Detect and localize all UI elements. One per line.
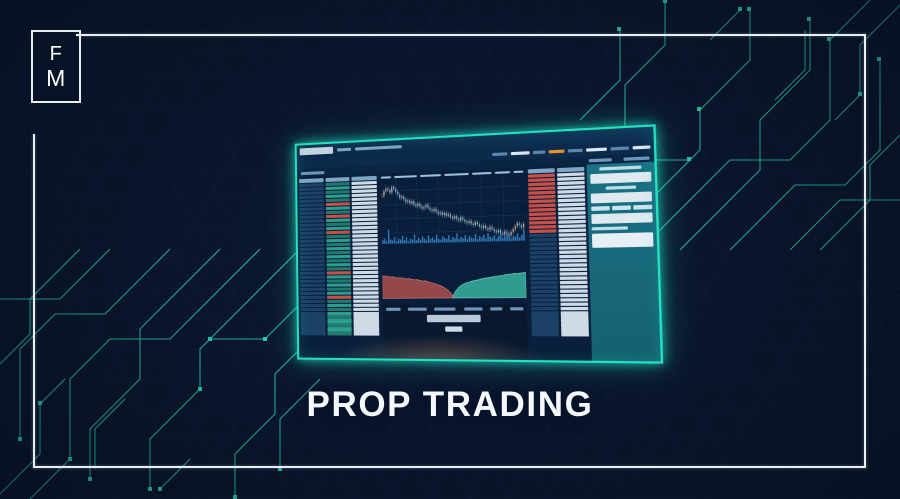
page-title: PROP TRADING: [0, 385, 900, 425]
poster-canvas: F M: [0, 0, 900, 499]
circuit-board-traces-bottom-left: [0, 249, 320, 499]
monitor-glow-border: [295, 124, 663, 363]
trading-platform-screenshot: [295, 124, 663, 363]
fm-logo: F M: [31, 30, 81, 103]
fm-logo-letter-f: F: [50, 44, 63, 64]
fm-logo-letter-m: M: [46, 67, 66, 90]
frame-edge-bottom: [33, 466, 866, 468]
frame-edge-top: [76, 34, 866, 36]
